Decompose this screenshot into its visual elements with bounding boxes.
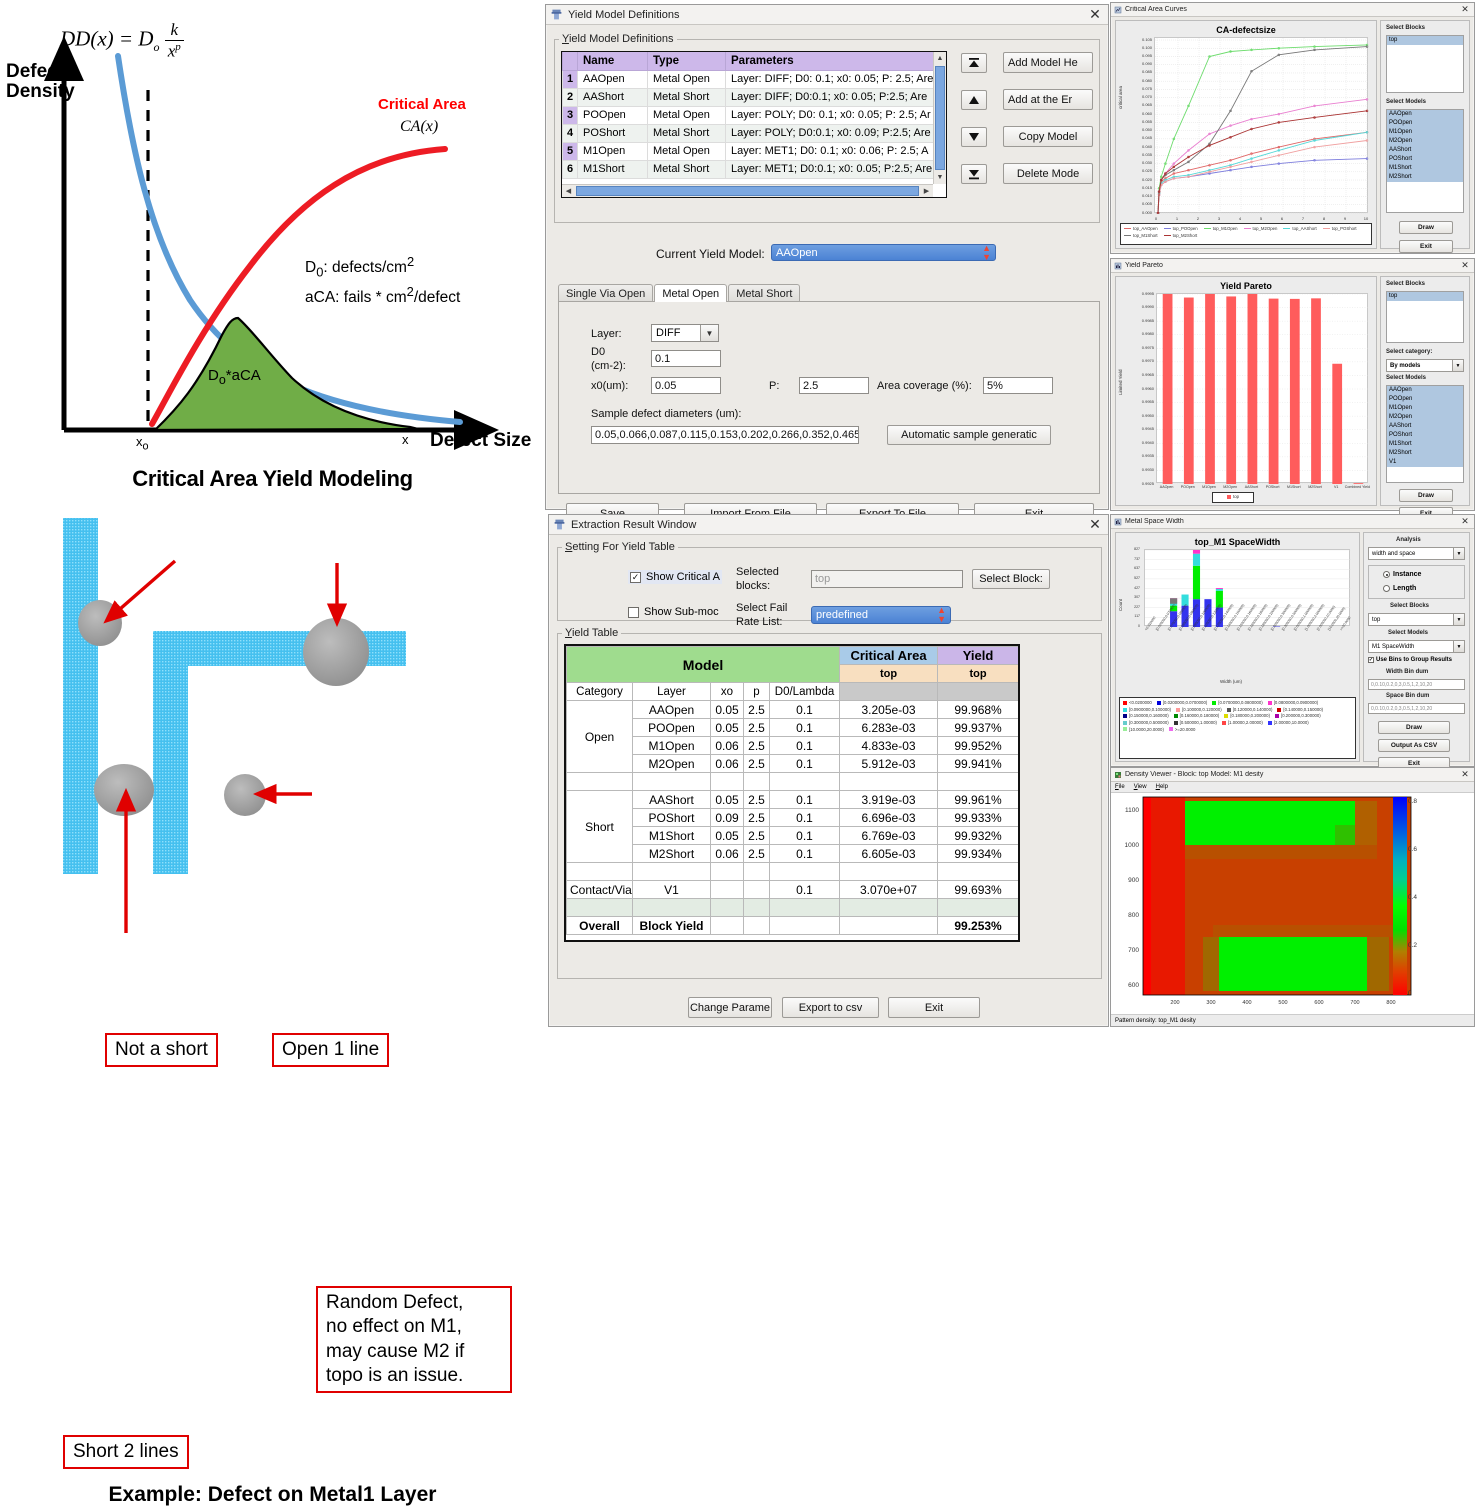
select-blocks-label: Select Blocks bbox=[1386, 281, 1425, 287]
cell-yield: 99.968% bbox=[938, 701, 1019, 719]
x-tick: 200 bbox=[1165, 1000, 1185, 1006]
cell-xo: 0.09 bbox=[711, 809, 744, 827]
metal1-diagram-title: Example: Defect on Metal1 Layer bbox=[0, 1483, 545, 1507]
cell-d0: 0.1 bbox=[770, 719, 840, 737]
window-titlebar: Metal Space Width ✕ bbox=[1111, 515, 1474, 529]
x-tick: 1 bbox=[1172, 216, 1182, 221]
use-bins-checkbox[interactable]: ✓ Use Bins to Group Results bbox=[1368, 657, 1452, 663]
cell-xo: 0.06 bbox=[711, 845, 744, 863]
row-index: 1 bbox=[563, 70, 578, 88]
chart-pane: CA-defectsize critical area defect size … bbox=[1115, 20, 1377, 249]
cell-block-yield-label: Block Yield bbox=[633, 917, 711, 935]
block-value: top bbox=[1372, 617, 1380, 623]
window-titlebar: Critical Area Curves ✕ bbox=[1111, 3, 1474, 17]
change-parameters-button[interactable]: Change Parame bbox=[688, 997, 772, 1018]
cell-xo: 0.05 bbox=[711, 791, 744, 809]
legend-label: [1.00000,2.00000) bbox=[1228, 720, 1263, 725]
window-titlebar: Density Viewer - Block: top Model: M1 de… bbox=[1111, 768, 1474, 782]
cell-xo: 0.06 bbox=[711, 755, 744, 773]
legend-line-icon bbox=[1164, 228, 1171, 229]
category-combo[interactable]: By models ▼ bbox=[1386, 359, 1464, 372]
cell-xo: 0.05 bbox=[711, 827, 744, 845]
x0-tick-label: xo bbox=[136, 434, 149, 453]
move-to-bottom-button[interactable] bbox=[961, 164, 987, 184]
model-list-item[interactable]: POShort bbox=[1387, 431, 1463, 440]
space-bin-input[interactable]: 0,0.10,0.2,0,3,0.5,1,2,10,20 bbox=[1368, 703, 1465, 714]
select-models-label: Select Models bbox=[1386, 99, 1426, 105]
hscroll-thumb[interactable] bbox=[576, 186, 919, 196]
ca-curves-svg bbox=[1155, 38, 1369, 214]
y-tick: 0.9940 bbox=[1124, 440, 1154, 445]
select-blocks-label: Select Blocks bbox=[1386, 25, 1425, 31]
window-body: CA-defectsize critical area defect size … bbox=[1111, 17, 1474, 253]
legend-label: >=20.0000 bbox=[1175, 727, 1196, 732]
y-tick: 0.9955 bbox=[1124, 399, 1154, 404]
y-tick: 0.9945 bbox=[1124, 426, 1154, 431]
current-yield-model-value: AAOpen bbox=[776, 247, 982, 259]
model-list-item[interactable]: AAShort bbox=[1387, 146, 1463, 155]
table-row[interactable]: 6M1ShortMetal ShortLayer: MET1; D0:0.1; … bbox=[563, 160, 946, 178]
y-tick: 0.020 bbox=[1124, 177, 1152, 182]
y-tick: 0.9965 bbox=[1124, 372, 1154, 377]
y-tick: 0.9985 bbox=[1124, 318, 1154, 323]
y-tick: 0.9980 bbox=[1124, 331, 1154, 336]
table-row[interactable]: 2AAShortMetal ShortLayer: DIFF; D0:0.1; … bbox=[563, 88, 946, 106]
checkbox-icon: ✓ bbox=[1368, 657, 1374, 663]
yield-header-row-1: ModelCritical AreaYield bbox=[567, 647, 1019, 665]
scroll-down-icon[interactable]: ▼ bbox=[934, 171, 946, 184]
cell-layer: V1 bbox=[633, 881, 711, 899]
callout-random-defect: Random Defect, no effect on M1, may caus… bbox=[316, 1286, 512, 1393]
scroll-left-icon[interactable]: ◀ bbox=[562, 185, 575, 197]
density-plot-pane: 200300400500600700800 110010009008007006… bbox=[1111, 793, 1474, 1014]
legend-label: top bbox=[1233, 494, 1239, 499]
cell-critical-area: 6.696e-03 bbox=[840, 809, 938, 827]
cell-yield: 99.941% bbox=[938, 755, 1019, 773]
y-tick: 0.070 bbox=[1124, 94, 1152, 99]
density-statusbar: Pattern density: top_M1 desity bbox=[1111, 1014, 1474, 1026]
model-combo[interactable]: M1 SpaceWidth ▼ bbox=[1368, 640, 1465, 653]
legend-label: [0.100000,0.120000) bbox=[1182, 707, 1222, 712]
fail-rate-combo[interactable]: predefined ▲▼ bbox=[811, 606, 951, 624]
top-arrow-icon bbox=[967, 57, 981, 69]
legend-label: top_POOpen bbox=[1173, 226, 1198, 231]
model-list-item[interactable]: AAOpen bbox=[1387, 386, 1463, 395]
cell-yield: 99.934% bbox=[938, 845, 1019, 863]
delete-model-button[interactable]: Delete Mode bbox=[1003, 163, 1093, 184]
y-tick: 900 bbox=[1113, 877, 1139, 884]
close-icon[interactable]: ✕ bbox=[1459, 769, 1471, 780]
legend-swatch bbox=[1222, 721, 1226, 725]
spacer-cell bbox=[711, 863, 744, 881]
legend-label: [0.0800000,0.0900000) bbox=[1274, 700, 1318, 705]
app-icon bbox=[553, 518, 566, 531]
model-list-item[interactable]: POOpen bbox=[1387, 395, 1463, 404]
legend-item: [1.00000,2.00000) bbox=[1222, 720, 1263, 727]
y-axis-label: DefectDensity bbox=[6, 62, 52, 102]
legend-label: top_POShort bbox=[1332, 226, 1357, 231]
model-list-item[interactable]: M2Short bbox=[1387, 449, 1463, 458]
export-to-csv-button[interactable]: Export to csv bbox=[782, 997, 879, 1018]
chart-pane: top_M1 SpaceWidth Count Width (um) 01172… bbox=[1115, 532, 1360, 762]
cell-critical-area: 5.912e-03 bbox=[840, 755, 938, 773]
move-to-top-button[interactable] bbox=[961, 53, 987, 73]
col-p: p bbox=[744, 683, 770, 701]
legend-swatch bbox=[1157, 701, 1161, 705]
legend-item: [0.0800000,0.0900000) bbox=[1268, 700, 1318, 707]
metal-open-panel: Layer: DIFF ▼ D0(cm-2): 0.1 x0(um): 0.05… bbox=[558, 301, 1100, 494]
x-tick: 800 bbox=[1381, 1000, 1401, 1006]
spacer-cell bbox=[567, 773, 633, 791]
up-arrow-icon bbox=[967, 95, 981, 105]
col-yield-spacer bbox=[938, 683, 1019, 701]
spacer-cell bbox=[840, 863, 938, 881]
cell-p: 2.5 bbox=[744, 845, 770, 863]
chart-title: top_M1 SpaceWidth bbox=[1116, 537, 1359, 547]
blocks-listbox[interactable]: top bbox=[1386, 35, 1464, 93]
metal1-layout-svg bbox=[0, 505, 545, 975]
chart-title: Yield Pareto bbox=[1116, 281, 1376, 291]
cell-xo: 0.05 bbox=[711, 701, 744, 719]
legend-item: top_AAShort bbox=[1283, 226, 1316, 233]
length-radio[interactable]: Length bbox=[1383, 585, 1416, 592]
legend-item: [0.120000,0.140000) bbox=[1227, 707, 1273, 714]
y-tick: 0.065 bbox=[1124, 102, 1152, 107]
cell-d0: 0.1 bbox=[770, 701, 840, 719]
header-critical-area: Critical Area bbox=[840, 647, 938, 665]
y-tick: 0.015 bbox=[1124, 185, 1152, 190]
model-list-item[interactable]: M1Short bbox=[1387, 164, 1463, 173]
cell-parameters: Layer: DIFF; D0: 0.1; x0: 0.05; P: 2.5; … bbox=[726, 70, 946, 88]
y-tick: 0.9995 bbox=[1124, 291, 1154, 296]
model-list-item[interactable]: M1Open bbox=[1387, 128, 1463, 137]
menu-view[interactable]: View bbox=[1134, 784, 1147, 790]
add-at-the-end-button[interactable]: Add at the Er bbox=[1003, 89, 1093, 110]
legend-swatch bbox=[1123, 727, 1127, 731]
add-model-here-button[interactable]: Add Model He bbox=[1003, 52, 1093, 73]
spacer-cell bbox=[711, 773, 744, 791]
model-table-container[interactable]: Name Type Parameters 1AAOpenMetal OpenLa… bbox=[561, 51, 947, 198]
cell-critical-area: 3.205e-03 bbox=[840, 701, 938, 719]
menu-help[interactable]: Help bbox=[1156, 784, 1168, 790]
legend-swatch bbox=[1275, 714, 1279, 718]
scroll-right-icon[interactable]: ▶ bbox=[920, 185, 933, 197]
model-table: Name Type Parameters 1AAOpenMetal OpenLa… bbox=[562, 52, 946, 179]
block-list-item[interactable]: top bbox=[1387, 292, 1463, 301]
model-list-item[interactable]: M2Open bbox=[1387, 413, 1463, 422]
cell-yield: 99.961% bbox=[938, 791, 1019, 809]
model-list-item[interactable]: AAShort bbox=[1387, 422, 1463, 431]
mode-radio-group: Instance Length bbox=[1368, 565, 1465, 599]
legend-label: top_M1Open bbox=[1213, 226, 1238, 231]
yield-data-row: M1Open0.062.50.14.833e-0399.952% bbox=[567, 737, 1019, 755]
legend-swatch bbox=[1224, 714, 1228, 718]
col-parameters[interactable]: Parameters bbox=[726, 52, 946, 70]
col-name[interactable]: Name bbox=[578, 52, 648, 70]
table-vertical-scrollbar[interactable]: ▲ ▼ bbox=[933, 52, 946, 184]
controls-pane: Select Blocks top Select Models AAOpenPO… bbox=[1380, 20, 1470, 249]
width-bin-input[interactable]: 0,0.10,0.2,0,3,0.5,1,2,10,20 bbox=[1368, 679, 1465, 690]
analysis-label: Analysis bbox=[1396, 537, 1421, 543]
table-row[interactable]: 5M1OpenMetal OpenLayer: MET1; D0: 0.1; x… bbox=[563, 142, 946, 160]
cell-overall-yield: 99.253% bbox=[938, 917, 1019, 935]
y-axis-label: Limited Yield bbox=[1118, 369, 1123, 395]
cell-overall-label: Overall bbox=[567, 917, 633, 935]
x-tick: 500 bbox=[1273, 1000, 1293, 1006]
model-list-item[interactable]: M1Open bbox=[1387, 404, 1463, 413]
tab-single-via-open[interactable]: Single Via Open bbox=[558, 284, 653, 302]
chart-icon bbox=[1114, 518, 1122, 526]
sample-diameters-input[interactable]: 0.05,0.066,0.087,0.115,0.153,0.202,0.266… bbox=[591, 426, 859, 444]
scroll-thumb[interactable] bbox=[935, 66, 945, 170]
legend-label: [2.00000,10.0000) bbox=[1274, 720, 1309, 725]
show-submodels-checkbox[interactable]: Show Sub-moc bbox=[628, 606, 719, 618]
legend-label: [0.180000,0.200000) bbox=[1230, 713, 1270, 718]
checkbox-icon bbox=[628, 607, 639, 618]
legend-label: <0.0200000 bbox=[1129, 700, 1152, 705]
legend-swatch bbox=[1123, 701, 1127, 705]
colorbar-tick: 0.6 bbox=[1408, 846, 1428, 853]
close-icon[interactable]: ✕ bbox=[1459, 4, 1471, 15]
legend-item: top_M1Open bbox=[1204, 226, 1238, 233]
fail-rate-value: predefined bbox=[816, 609, 937, 621]
yield-data-row: POShort0.092.50.16.696e-0399.933% bbox=[567, 809, 1019, 827]
dd-formula: DD(x) = Do k xp bbox=[60, 20, 184, 62]
model-list-item[interactable]: V1 bbox=[1387, 458, 1463, 467]
yield-data-row: M2Short0.062.50.16.605e-0399.934% bbox=[567, 845, 1019, 863]
menu-file[interactable]: File bbox=[1115, 784, 1125, 790]
legend-item: [0.140000,0.150000) bbox=[1277, 707, 1323, 714]
legend-swatch bbox=[1212, 701, 1216, 705]
block-list-item[interactable]: top bbox=[1387, 36, 1463, 45]
y-tick: 800 bbox=[1113, 912, 1139, 919]
tab-metal-short[interactable]: Metal Short bbox=[728, 284, 800, 302]
pareto-bars-svg bbox=[1157, 294, 1369, 484]
window-title: Yield Pareto bbox=[1125, 262, 1459, 269]
model-list-item[interactable]: POShort bbox=[1387, 155, 1463, 164]
col-d0lambda: D0/Lambda bbox=[770, 683, 840, 701]
select-blocks-button[interactable]: Select Block: bbox=[972, 569, 1050, 589]
y-tick: 1000 bbox=[1113, 842, 1139, 849]
close-icon[interactable]: ✕ bbox=[1459, 516, 1471, 527]
y-tick: 0.050 bbox=[1124, 127, 1152, 132]
chevron-down-icon: ▼ bbox=[700, 325, 718, 341]
legend-swatch bbox=[1227, 495, 1231, 499]
radio-icon bbox=[1383, 585, 1390, 592]
cell-type: Metal Open bbox=[648, 106, 726, 124]
x-axis-label: Width (um) bbox=[1220, 679, 1242, 684]
cell-p: 2.5 bbox=[744, 791, 770, 809]
close-icon[interactable]: ✕ bbox=[1459, 260, 1471, 271]
cell-d0: 0.1 bbox=[770, 845, 840, 863]
legend-swatch bbox=[1123, 708, 1127, 712]
selected-blocks-input[interactable]: top bbox=[811, 570, 963, 588]
current-yield-model-combo[interactable]: AAOpen ▲▼ bbox=[771, 244, 996, 261]
cell-d0: 0.1 bbox=[770, 881, 840, 899]
cell-parameters: Layer: POLY; D0:0.1; x0: 0.09; P:2.5; Ar… bbox=[726, 124, 946, 142]
automatic-sample-generation-button[interactable]: Automatic sample generatic bbox=[887, 425, 1051, 445]
cell-layer: POShort bbox=[633, 809, 711, 827]
cell-layer: M1Open bbox=[633, 737, 711, 755]
chevron-updown-icon: ▲▼ bbox=[937, 606, 946, 624]
exit-button[interactable]: Exit bbox=[1399, 240, 1453, 253]
d0-label: D0(cm-2): bbox=[591, 346, 626, 374]
ca-plot-area bbox=[1154, 37, 1368, 213]
model-list-item[interactable]: M2Short bbox=[1387, 173, 1463, 182]
area-coverage-label: Area coverage (%): bbox=[877, 380, 972, 392]
radio-icon bbox=[1383, 571, 1390, 578]
group-legend: Yield Model Definitions bbox=[559, 33, 677, 45]
model-list-item[interactable]: POOpen bbox=[1387, 119, 1463, 128]
spacer-cell bbox=[567, 863, 633, 881]
move-up-button[interactable] bbox=[961, 90, 987, 110]
legend-item: [2.00000,10.0000) bbox=[1268, 720, 1309, 727]
models-listbox[interactable]: AAOpenPOOpenM1OpenM2OpenAAShortPOShortM1… bbox=[1386, 385, 1464, 483]
legend-item: [0.0700000,0.0800000) bbox=[1212, 700, 1262, 707]
density-heatmap-svg bbox=[1111, 793, 1476, 1016]
models-listbox[interactable]: AAOpenPOOpenM1OpenM2OpenAAShortPOShortM1… bbox=[1386, 109, 1464, 213]
show-submodels-label: Show Sub-moc bbox=[644, 606, 719, 618]
draw-button[interactable]: Draw bbox=[1399, 221, 1453, 234]
draw-button[interactable]: Draw bbox=[1378, 721, 1450, 734]
cell-critical-area: 3.919e-03 bbox=[840, 791, 938, 809]
model-list-item[interactable]: M2Open bbox=[1387, 137, 1463, 146]
spacer-cell bbox=[938, 863, 1019, 881]
y-tick: 0.060 bbox=[1124, 111, 1152, 116]
spacer-cell bbox=[770, 863, 840, 881]
cell-empty bbox=[711, 917, 744, 935]
legend-label: top_M2Short bbox=[1173, 233, 1198, 238]
y-tick: 600 bbox=[1113, 982, 1139, 989]
table-horizontal-scrollbar[interactable]: ◀ ▶ bbox=[562, 184, 933, 197]
table-row[interactable]: 3POOpenMetal OpenLayer: POLY; D0: 0.1; x… bbox=[563, 106, 946, 124]
cell-name: POShort bbox=[578, 124, 648, 142]
app-icon bbox=[550, 8, 563, 21]
block-combo[interactable]: top ▼ bbox=[1368, 613, 1465, 626]
x-tick: 300 bbox=[1201, 1000, 1221, 1006]
x-tick: 5 bbox=[1256, 216, 1266, 221]
layer-select[interactable]: DIFF ▼ bbox=[651, 324, 719, 342]
p-input[interactable]: 2.5 bbox=[799, 377, 869, 394]
window-title: Extraction Result Window bbox=[571, 519, 1086, 531]
close-icon[interactable]: ✕ bbox=[1086, 6, 1104, 23]
close-icon[interactable]: ✕ bbox=[1086, 516, 1104, 533]
model-value: M1 SpaceWidth bbox=[1372, 644, 1414, 650]
exit-button[interactable]: Exit bbox=[888, 997, 980, 1018]
yield-model-definitions-group: Yield Model Definitions Name Type Parame… bbox=[554, 33, 1100, 223]
d0-input[interactable]: 0.1 bbox=[651, 350, 721, 367]
scroll-up-icon[interactable]: ▲ bbox=[934, 52, 946, 65]
window-titlebar: Yield Pareto ✕ bbox=[1111, 259, 1474, 273]
header-ca-block: top bbox=[840, 665, 938, 683]
table-row[interactable]: 1AAOpenMetal OpenLayer: DIFF; D0: 0.1; x… bbox=[563, 70, 946, 88]
select-blocks-label: Select Blocks bbox=[1390, 603, 1429, 609]
x0-input[interactable]: 0.05 bbox=[651, 377, 721, 394]
table-row[interactable]: 4POShortMetal ShortLayer: POLY; D0:0.1; … bbox=[563, 124, 946, 142]
legend-label: top_AAShort bbox=[1292, 226, 1316, 231]
x-tick: 4 bbox=[1235, 216, 1245, 221]
y-tick: 0.005 bbox=[1124, 201, 1152, 206]
callout-short-2-lines: Short 2 lines bbox=[63, 1435, 189, 1469]
cell-layer: AAOpen bbox=[633, 701, 711, 719]
legend-swatch bbox=[1123, 714, 1127, 718]
col-type[interactable]: Type bbox=[648, 52, 726, 70]
cell-parameters: Layer: MET1; D0:0.1; x0: 0.05; P:2.5; Ar… bbox=[726, 160, 946, 178]
blocks-listbox[interactable]: top bbox=[1386, 291, 1464, 343]
cell-yield: 99.952% bbox=[938, 737, 1019, 755]
p-label: P: bbox=[769, 380, 779, 392]
cell-critical-area: 6.605e-03 bbox=[840, 845, 938, 863]
legend-swatch bbox=[1268, 721, 1272, 725]
chevron-down-icon: ▼ bbox=[1453, 614, 1464, 625]
layer-value: DIFF bbox=[656, 327, 700, 339]
legend-item: top_M2Short bbox=[1164, 233, 1198, 240]
row-index: 3 bbox=[563, 106, 578, 124]
y-tick: 227 bbox=[1120, 605, 1140, 609]
select-category-label: Select category: bbox=[1386, 349, 1432, 355]
yield-table-body: ModelCritical AreaYieldtoptopCategoryLay… bbox=[567, 647, 1019, 935]
legend-item: top_M2Open bbox=[1244, 226, 1278, 233]
yield-table-group: Yield Table ModelCritical AreaYieldtopto… bbox=[557, 627, 1102, 979]
draw-button[interactable]: Draw bbox=[1399, 489, 1453, 502]
yield-data-row: OpenAAOpen0.052.50.13.205e-0399.968% bbox=[567, 701, 1019, 719]
controls-pane: Select Blocks top Select category: By mo… bbox=[1380, 276, 1470, 506]
y-tick: 0 bbox=[1120, 624, 1140, 628]
y-tick: 0.9935 bbox=[1124, 453, 1154, 458]
x-tick: 7 bbox=[1298, 216, 1308, 221]
model-type-tabs: Single Via Open Metal Open Metal Short bbox=[558, 281, 801, 302]
chart-title: CA-defectsize bbox=[1116, 25, 1376, 35]
model-list-item[interactable]: AAOpen bbox=[1387, 110, 1463, 119]
y-tick: 0.080 bbox=[1124, 78, 1152, 83]
y-tick: 0.010 bbox=[1124, 193, 1152, 198]
legend-line-icon bbox=[1323, 228, 1330, 229]
copy-model-button[interactable]: Copy Model bbox=[1003, 126, 1093, 147]
density-viewer-window: Density Viewer - Block: top Model: M1 de… bbox=[1110, 767, 1475, 1027]
move-down-button[interactable] bbox=[961, 127, 987, 147]
chart-legend: <0.0200000[0.0200000,0.0700000)[0.070000… bbox=[1119, 697, 1356, 759]
cell-xo bbox=[711, 881, 744, 899]
analysis-combo[interactable]: width and space ▼ bbox=[1368, 547, 1465, 560]
show-critical-area-checkbox[interactable]: ✓ Show Critical A bbox=[628, 570, 722, 584]
instance-radio[interactable]: Instance bbox=[1383, 571, 1421, 578]
ca-function-label: CA(x) bbox=[400, 118, 438, 136]
cell-type: Metal Short bbox=[648, 88, 726, 106]
cell-yield: 99.693% bbox=[938, 881, 1019, 899]
model-list-item[interactable]: M1Short bbox=[1387, 440, 1463, 449]
down-arrow-icon bbox=[967, 132, 981, 142]
x-tick: 700 bbox=[1345, 1000, 1365, 1006]
metal-space-width-window: Metal Space Width ✕ top_M1 SpaceWidth Co… bbox=[1110, 514, 1475, 767]
group-legend: Setting For Yield Table bbox=[562, 541, 678, 553]
legend-label: [0.160000,0.180000) bbox=[1180, 713, 1220, 718]
spacer-cell bbox=[840, 773, 938, 791]
output-as-csv-button[interactable]: Output As CSV bbox=[1378, 739, 1450, 752]
window-title: Metal Space Width bbox=[1125, 518, 1459, 525]
y-tick: 427 bbox=[1120, 586, 1140, 590]
density-menubar: File View Help bbox=[1111, 782, 1474, 793]
row-index: 5 bbox=[563, 142, 578, 160]
col-ca-spacer bbox=[840, 683, 938, 701]
show-critical-area-label: Show Critical A bbox=[646, 571, 720, 583]
legend-item: [0.200000,0.300000) bbox=[1275, 713, 1321, 720]
chart-pane: Yield Pareto Limited Yield 0.99250.99300… bbox=[1115, 276, 1377, 506]
area-coverage-input[interactable]: 5% bbox=[983, 377, 1053, 394]
cell-parameters: Layer: MET1; D0: 0.1; x0: 0.06; P: 2.5; … bbox=[726, 142, 946, 160]
spacer-row bbox=[567, 899, 1019, 917]
critical-area-curves-window: Critical Area Curves ✕ CA-defectsize cri… bbox=[1110, 2, 1475, 254]
tab-metal-open[interactable]: Metal Open bbox=[654, 284, 727, 302]
